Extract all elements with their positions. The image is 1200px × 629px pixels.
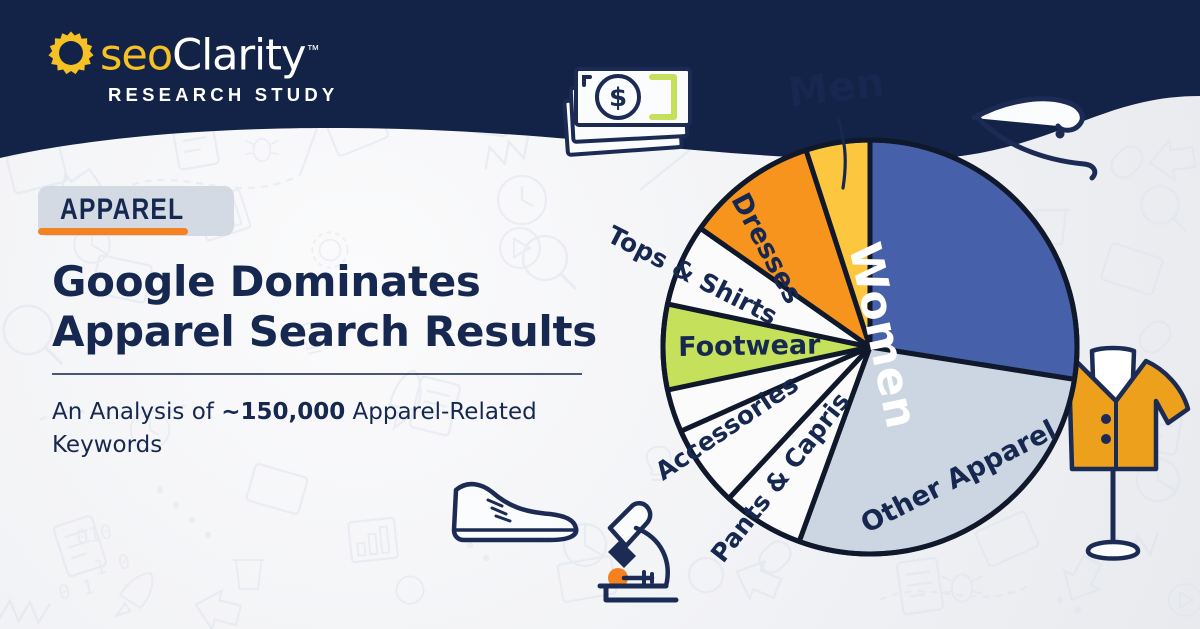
title-divider — [52, 373, 582, 375]
headline-line-1: Google Dominates — [52, 257, 652, 307]
brand-logo[interactable]: seoClarity™ RESEARCH STUDY — [48, 28, 338, 106]
svg-text:1 0: 1 0 — [92, 549, 132, 580]
page-title: Google Dominates Apparel Search Results — [52, 257, 652, 357]
subtitle-prefix: An Analysis of — [52, 399, 221, 425]
logo-text-clarity: Clarity — [172, 30, 305, 80]
pie-chart: Men Women Other Apparel Dresses Tops & S… — [600, 60, 1200, 620]
svg-text:0 1: 0 1 — [56, 574, 96, 605]
category-badge-underline — [38, 228, 188, 235]
trademark-symbol: ™ — [306, 42, 318, 57]
subtitle-keyword-count: ~150,000 — [221, 399, 345, 425]
logo-text-seo: seo — [100, 30, 172, 80]
infographic-canvas: 010 1 0 0 1 seoClarity™ RESEARCH STUDY A… — [0, 0, 1200, 629]
category-badge-label: APPAREL — [60, 195, 184, 225]
logo-tagline: RESEARCH STUDY — [108, 84, 338, 106]
dress-shoe-icon — [448, 468, 598, 558]
sunburst-gear-icon — [48, 30, 94, 76]
slice-label-footwear: Footwear — [678, 330, 821, 363]
headline-line-2: Apparel Search Results — [52, 307, 652, 357]
subtitle: An Analysis of ~150,000 Apparel-Related … — [52, 396, 622, 462]
svg-text:010: 010 — [74, 519, 114, 550]
